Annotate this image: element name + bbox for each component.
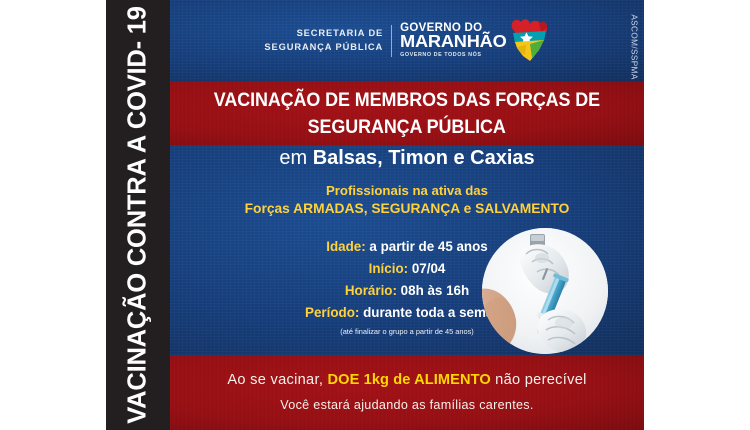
governo-line-2: MARANHÃO: [400, 33, 507, 51]
detail-label-periodo: Período:: [305, 305, 359, 320]
cta-highlight: DOE 1kg de ALIMENTO: [328, 372, 491, 388]
headline-line-2: SEGURANÇA PÚBLICA: [308, 114, 506, 141]
poster-header: SECRETARIA DE SEGURANÇA PÚBLICA GOVERNO …: [170, 14, 644, 67]
secretaria-line-2: SEGURANÇA PÚBLICA: [264, 41, 383, 54]
audience-line-2: Forças ARMADAS, SEGURANÇA e SALVAMENTO: [170, 200, 644, 219]
main-text-block: em Balsas, Timon e Caxias Profissionais …: [170, 146, 644, 218]
cities-line: em Balsas, Timon e Caxias: [170, 146, 644, 170]
maranhao-state-map-icon: [506, 14, 550, 67]
headline-line-1: VACINAÇÃO DE MEMBROS DAS FORÇAS DE: [214, 87, 600, 114]
detail-value-inicio: 07/04: [412, 261, 446, 276]
detail-label-inicio: Início:: [369, 261, 408, 276]
detail-value-horario: 08h às 16h: [401, 283, 469, 298]
vertical-sidebar: VACINAÇÃO CONTRA A COVID- 19: [106, 0, 170, 430]
cta-line-1: Ao se vacinar, DOE 1kg de ALIMENTO não p…: [227, 372, 586, 390]
cta-suffix: não perecível: [491, 372, 587, 388]
detail-label-horario: Horário:: [345, 283, 397, 298]
governo-logo-text: GOVERNO DO MARANHÃO GOVERNO DE TODOS NÓS: [400, 23, 504, 59]
cta-prefix: Ao se vacinar,: [227, 372, 327, 388]
poster-canvas: VACINAÇÃO CONTRA A COVID- 19 SECRETARIA …: [0, 0, 750, 430]
cities-names: Balsas, Timon e Caxias: [313, 147, 535, 169]
secretaria-logo-text: SECRETARIA DE SEGURANÇA PÚBLICA: [264, 27, 391, 53]
ascom-credit-text: ASCOM/SSPMA: [630, 14, 639, 79]
cities-prefix: em: [279, 147, 312, 169]
detail-value-idade: a partir de 45 anos: [369, 239, 487, 254]
cta-line-2: Você estará ajudando as famílias carente…: [280, 398, 533, 413]
call-to-action-block: Ao se vacinar, DOE 1kg de ALIMENTO não p…: [170, 355, 644, 430]
governo-tagline: GOVERNO DE TODOS NÓS: [400, 53, 502, 58]
headline-block: VACINAÇÃO DE MEMBROS DAS FORÇAS DE SEGUR…: [170, 82, 644, 145]
detail-label-idade: Idade:: [326, 239, 365, 254]
poster-body: SECRETARIA DE SEGURANÇA PÚBLICA GOVERNO …: [170, 0, 644, 430]
secretaria-line-1: SECRETARIA DE: [264, 27, 383, 40]
ascom-credit: ASCOM/SSPMA: [626, 6, 642, 88]
syringe-photo: [482, 228, 608, 354]
logo-divider: [391, 25, 392, 57]
audience-line-1: Profissionais na ativa das: [170, 183, 644, 200]
governo-maranhao-logo: GOVERNO DO MARANHÃO GOVERNO DE TODOS NÓS: [400, 14, 549, 67]
sidebar-campaign-title: VACINAÇÃO CONTRA A COVID- 19: [125, 6, 151, 424]
